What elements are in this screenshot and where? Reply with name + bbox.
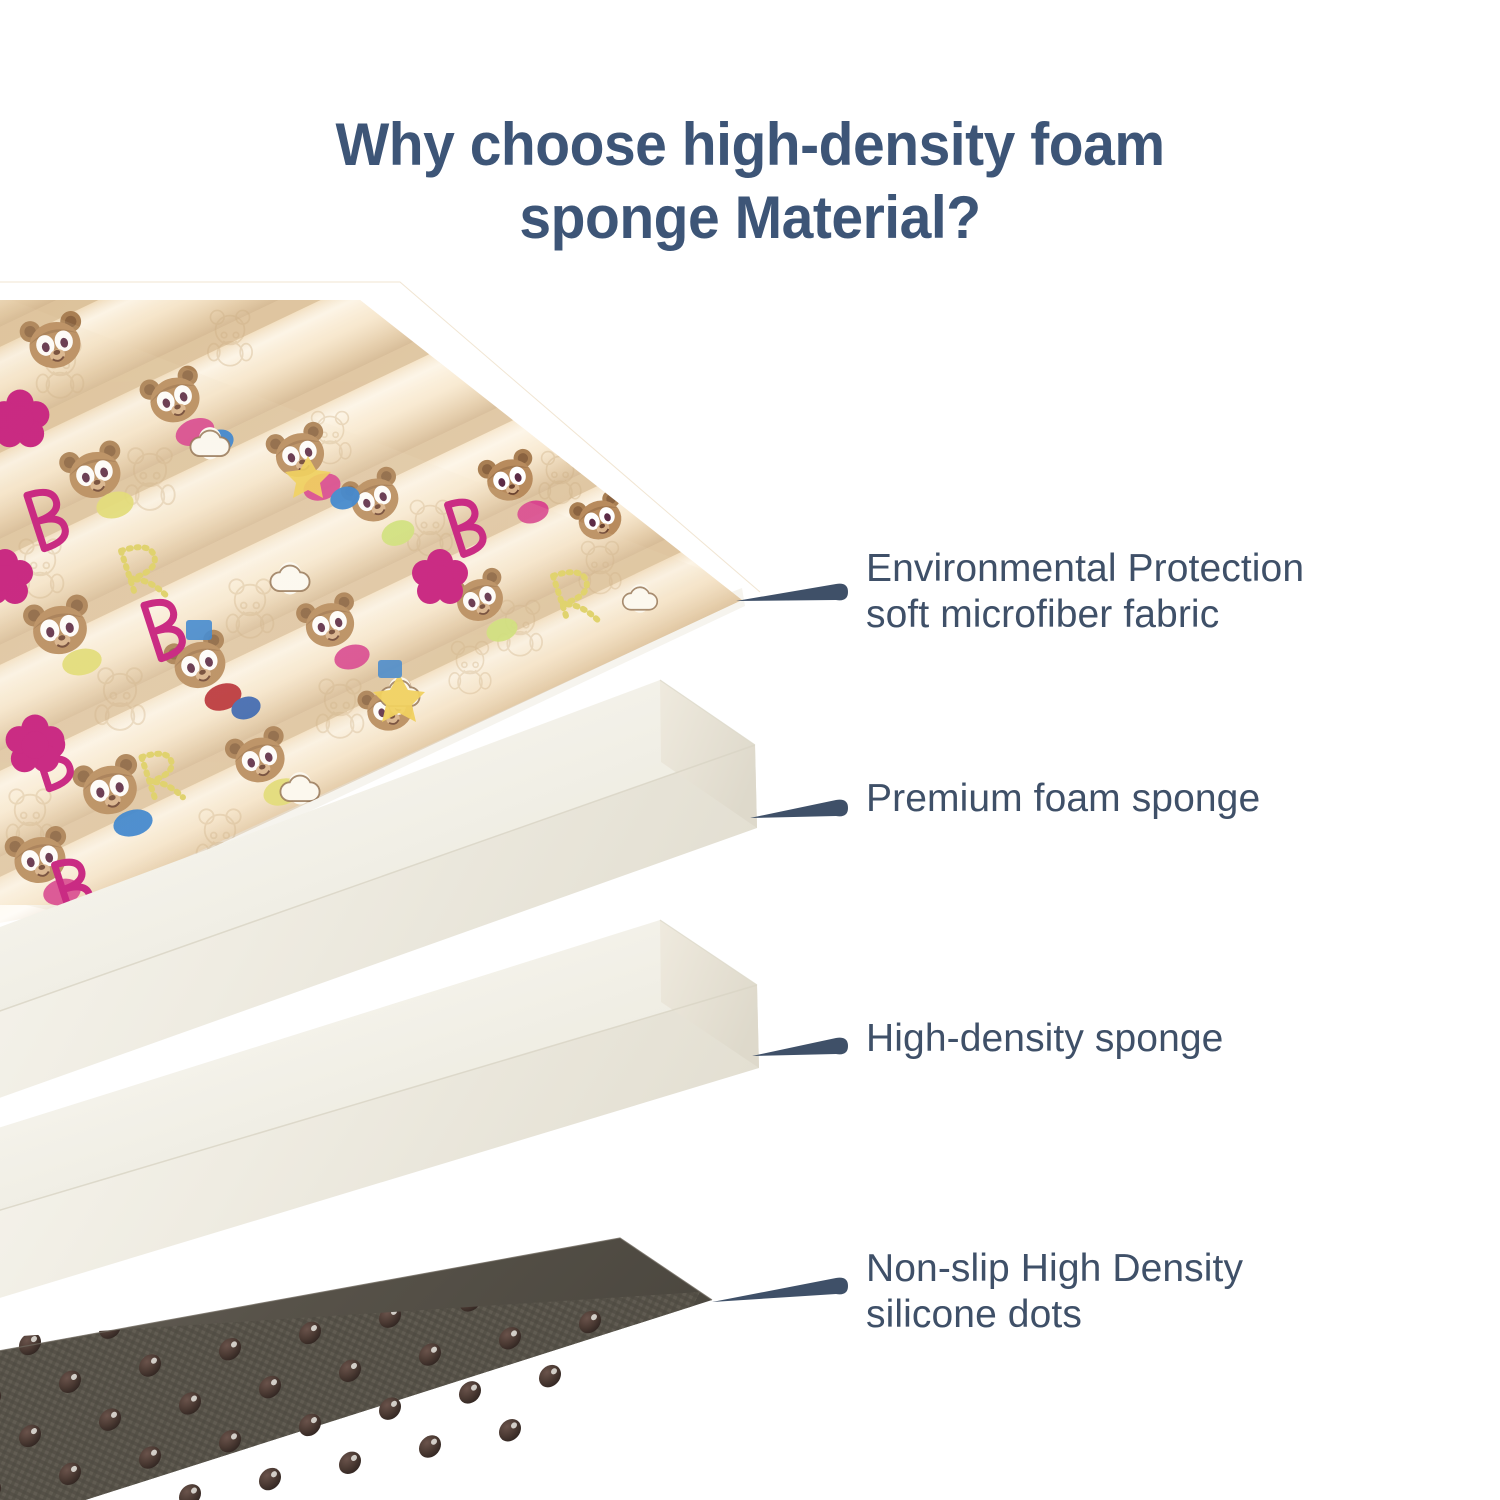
layer-stack-illustration [0,0,1500,1500]
infographic-canvas: Why choose high-density foam sponge Mate… [0,0,1500,1500]
leader-line-2 [750,800,848,818]
leader-line-4 [712,1278,848,1302]
callout-leader-lines [712,584,848,1302]
callout-label-fabric: Environmental Protection soft microfiber… [866,546,1304,638]
leader-line-3 [752,1038,848,1056]
callout-label-silicone-dots: Non-slip High Density silicone dots [866,1246,1243,1338]
callout-label-premium-foam: Premium foam sponge [866,776,1260,822]
callout-label-high-density-foam: High-density sponge [866,1016,1223,1062]
